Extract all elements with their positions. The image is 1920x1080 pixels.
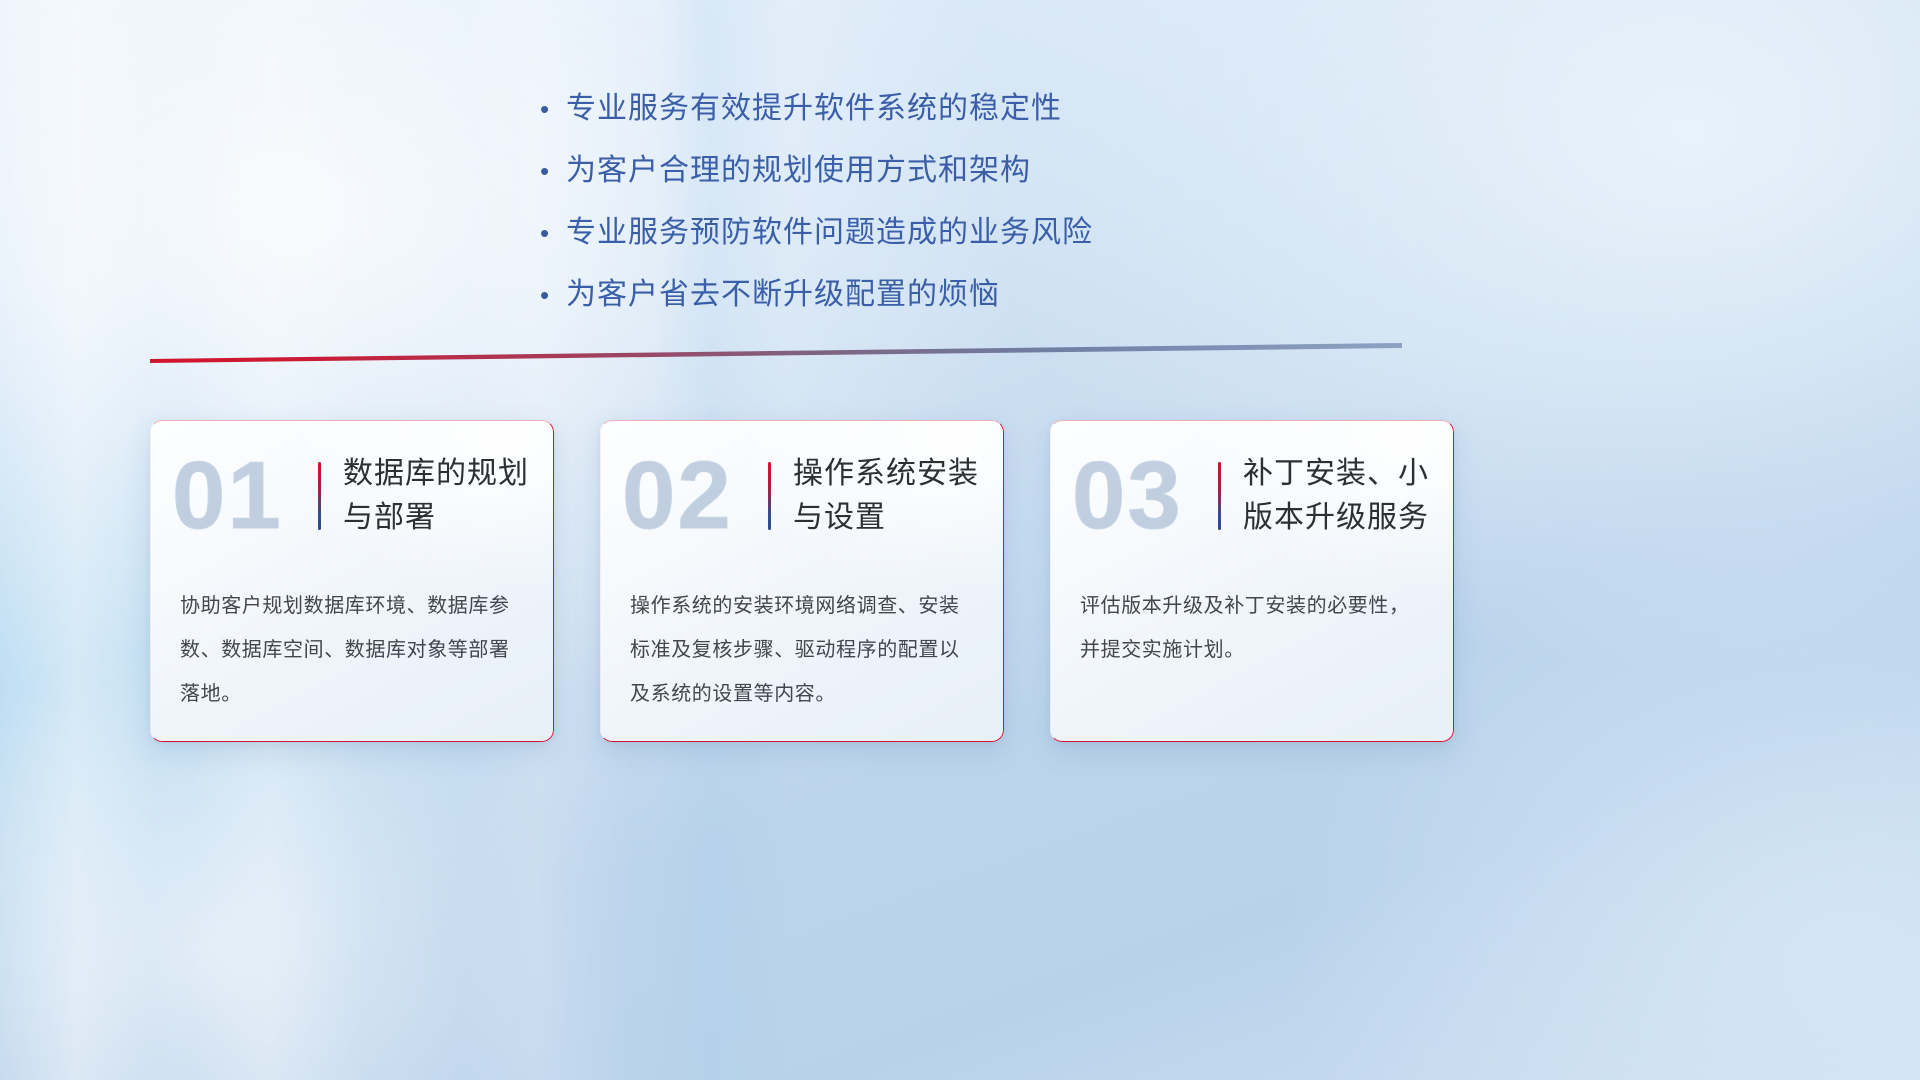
card-title-rule bbox=[768, 462, 771, 530]
bullet-marker-icon: • bbox=[540, 210, 566, 256]
section-divider bbox=[150, 343, 1402, 367]
bullet-item: • 专业服务有效提升软件系统的稳定性 bbox=[540, 86, 1093, 132]
card-title-rule bbox=[1218, 462, 1221, 530]
bullet-item-text: 专业服务预防软件问题造成的业务风险 bbox=[566, 210, 1093, 256]
service-card[interactable]: 03 补丁安装、小版本升级服务 评估版本升级及补丁安装的必要性，并提交实施计划。 bbox=[1050, 420, 1454, 742]
card-step-number: 02 bbox=[622, 440, 766, 552]
bullet-marker-icon: • bbox=[540, 86, 566, 132]
card-header: 02 操作系统安装与设置 bbox=[600, 420, 1004, 572]
bullet-item-text: 专业服务有效提升软件系统的稳定性 bbox=[566, 86, 1062, 132]
service-card-list: 01 数据库的规划与部署 协助客户规划数据库环境、数据库参数、数据库空间、数据库… bbox=[150, 420, 1454, 742]
card-step-number: 01 bbox=[172, 440, 316, 552]
card-header: 03 补丁安装、小版本升级服务 bbox=[1050, 420, 1454, 572]
bullet-item-text: 为客户合理的规划使用方式和架构 bbox=[566, 148, 1031, 194]
card-body-text: 协助客户规划数据库环境、数据库参数、数据库空间、数据库对象等部署落地。 bbox=[150, 572, 554, 716]
card-title-rule bbox=[318, 462, 321, 530]
bullet-item: • 专业服务预防软件问题造成的业务风险 bbox=[540, 210, 1093, 256]
card-body-text: 操作系统的安装环境网络调查、安装标准及复核步骤、驱动程序的配置以及系统的设置等内… bbox=[600, 572, 1004, 716]
card-title: 操作系统安装与设置 bbox=[793, 452, 989, 540]
card-body-text: 评估版本升级及补丁安装的必要性，并提交实施计划。 bbox=[1050, 572, 1454, 672]
bullet-marker-icon: • bbox=[540, 272, 566, 318]
card-header: 01 数据库的规划与部署 bbox=[150, 420, 554, 572]
card-title: 补丁安装、小版本升级服务 bbox=[1243, 452, 1439, 540]
card-step-number: 03 bbox=[1072, 440, 1216, 552]
service-card[interactable]: 01 数据库的规划与部署 协助客户规划数据库环境、数据库参数、数据库空间、数据库… bbox=[150, 420, 554, 742]
bullet-item: • 为客户合理的规划使用方式和架构 bbox=[540, 148, 1093, 194]
slide-canvas: • 专业服务有效提升软件系统的稳定性 • 为客户合理的规划使用方式和架构 • 专… bbox=[0, 0, 1920, 1080]
bullet-item: • 为客户省去不断升级配置的烦恼 bbox=[540, 272, 1093, 318]
divider-wedge-icon bbox=[150, 343, 1402, 367]
card-title: 数据库的规划与部署 bbox=[343, 452, 539, 540]
bullet-marker-icon: • bbox=[540, 148, 566, 194]
bullet-item-text: 为客户省去不断升级配置的烦恼 bbox=[566, 272, 1000, 318]
service-card[interactable]: 02 操作系统安装与设置 操作系统的安装环境网络调查、安装标准及复核步骤、驱动程… bbox=[600, 420, 1004, 742]
benefits-bullet-list: • 专业服务有效提升软件系统的稳定性 • 为客户合理的规划使用方式和架构 • 专… bbox=[540, 86, 1093, 318]
